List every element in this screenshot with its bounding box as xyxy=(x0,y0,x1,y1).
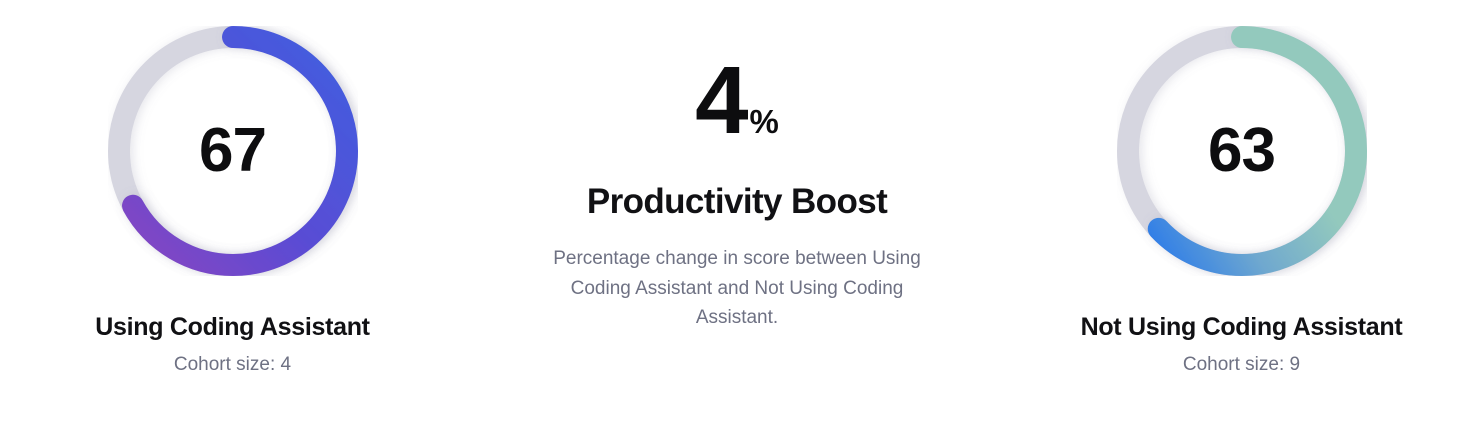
gauge-title-right: Not Using Coding Assistant xyxy=(1081,313,1403,342)
gauge-value-left: 67 xyxy=(199,120,266,182)
delta-value-row: 4 % xyxy=(695,58,779,144)
delta-label: Productivity Boost xyxy=(587,182,887,222)
delta-description: Percentage change in score between Using… xyxy=(537,244,937,332)
delta-panel-center: 4 % Productivity Boost Percentage change… xyxy=(502,0,972,333)
gauge-left[interactable]: 67 xyxy=(108,26,358,276)
gauge-cohort-left: Cohort size: 4 xyxy=(174,354,291,376)
gauge-comparison-widget: 67 Using Coding Assistant Cohort size: 4… xyxy=(0,0,1474,426)
gauge-panel-left: 67 Using Coding Assistant Cohort size: 4 xyxy=(0,0,465,376)
delta-value: 4 xyxy=(695,58,745,144)
gauge-title-left: Using Coding Assistant xyxy=(95,313,369,342)
delta-unit: % xyxy=(750,105,779,138)
gauge-cohort-right: Cohort size: 9 xyxy=(1183,354,1300,376)
gauge-panel-right: 63 Not Using Coding Assistant Cohort siz… xyxy=(1009,0,1474,376)
gauge-right[interactable]: 63 xyxy=(1117,26,1367,276)
gauge-value-right: 63 xyxy=(1208,120,1275,182)
